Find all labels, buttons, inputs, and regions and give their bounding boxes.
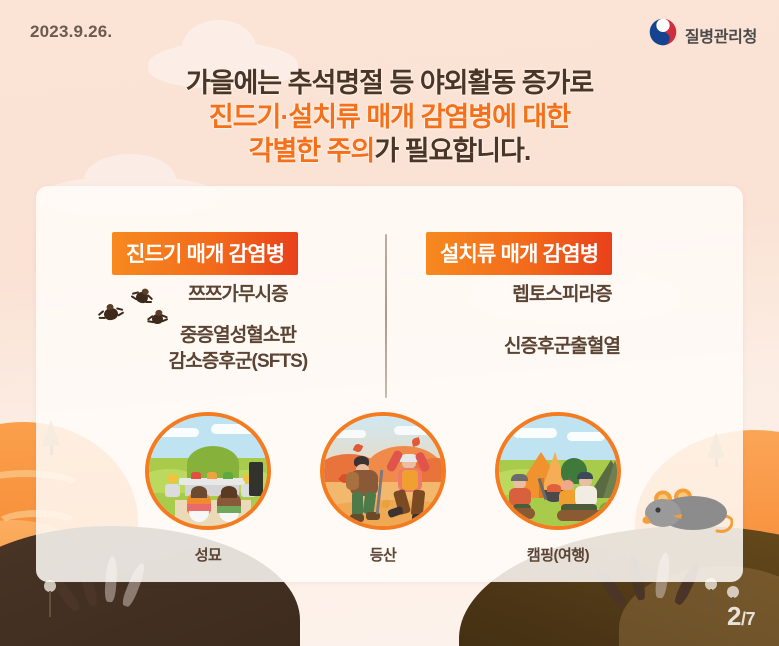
activity-label: 성묘 [138,544,278,565]
disease-name: 중증열성혈소판 [104,323,372,349]
disease-name: 렙토스피라증 [428,282,696,308]
taegeuk-logo-icon [649,18,677,51]
activity-item-grave-visit: 성묘 [138,412,278,565]
disease-name: 신증후군출혈열 [428,334,696,360]
page-total: 7 [745,609,755,629]
disease-name: 감소증후군(SFTS) [104,349,372,375]
category-badge-tick: 진드기 매개 감염병 [112,232,298,275]
camping-icon [495,412,621,530]
category-badge-rodent: 설치류 매개 감염병 [426,232,612,275]
headline-line-3-rest: 가 필요합니다. [374,136,530,166]
headline-line-2: 진드기·설치류 매개 감염병에 대한 [0,100,779,134]
mouse-icon [637,486,733,534]
page-title: 가을에는 추석명절 등 야외활동 증가로 진드기·설치류 매개 감염병에 대한 … [0,66,779,168]
activity-label: 등산 [313,544,453,565]
page-current: 2 [727,601,741,631]
dandelion-icon [727,586,739,598]
column-divider [385,234,387,398]
infographic-slide: 2023.9.26. 질병관리청 가을에는 추석명절 등 야외활동 증가로 진드… [0,0,779,646]
headline-line-3-highlight: 각별한 주의 [249,136,375,166]
activity-item-camping: 캠핑(여행) [488,412,628,565]
disease-list-tick: 쯔쯔가무시증 중증열성혈소판 감소증후군(SFTS) [104,282,372,376]
headline-line-3: 각별한 주의가 필요합니다. [0,134,779,168]
agency-name: 질병관리청 [685,23,757,47]
page-indicator: 2/7 [727,601,755,632]
activity-label: 캠핑(여행) [488,544,628,565]
activity-item-hiking: 등산 [313,412,453,565]
disease-list-rodent: 렙토스피라증 신증후군출혈열 [428,282,696,360]
grave-visit-icon [145,412,271,530]
disease-name: 쯔쯔가무시증 [104,282,372,308]
headline-line-1: 가을에는 추석명절 등 야외활동 증가로 [0,66,779,100]
agency-logo: 질병관리청 [649,18,757,51]
hiking-icon [320,412,446,530]
content-panel: 진드기 매개 감염병 설치류 매개 감염병 [36,186,743,582]
date-label: 2023.9.26. [30,22,112,42]
